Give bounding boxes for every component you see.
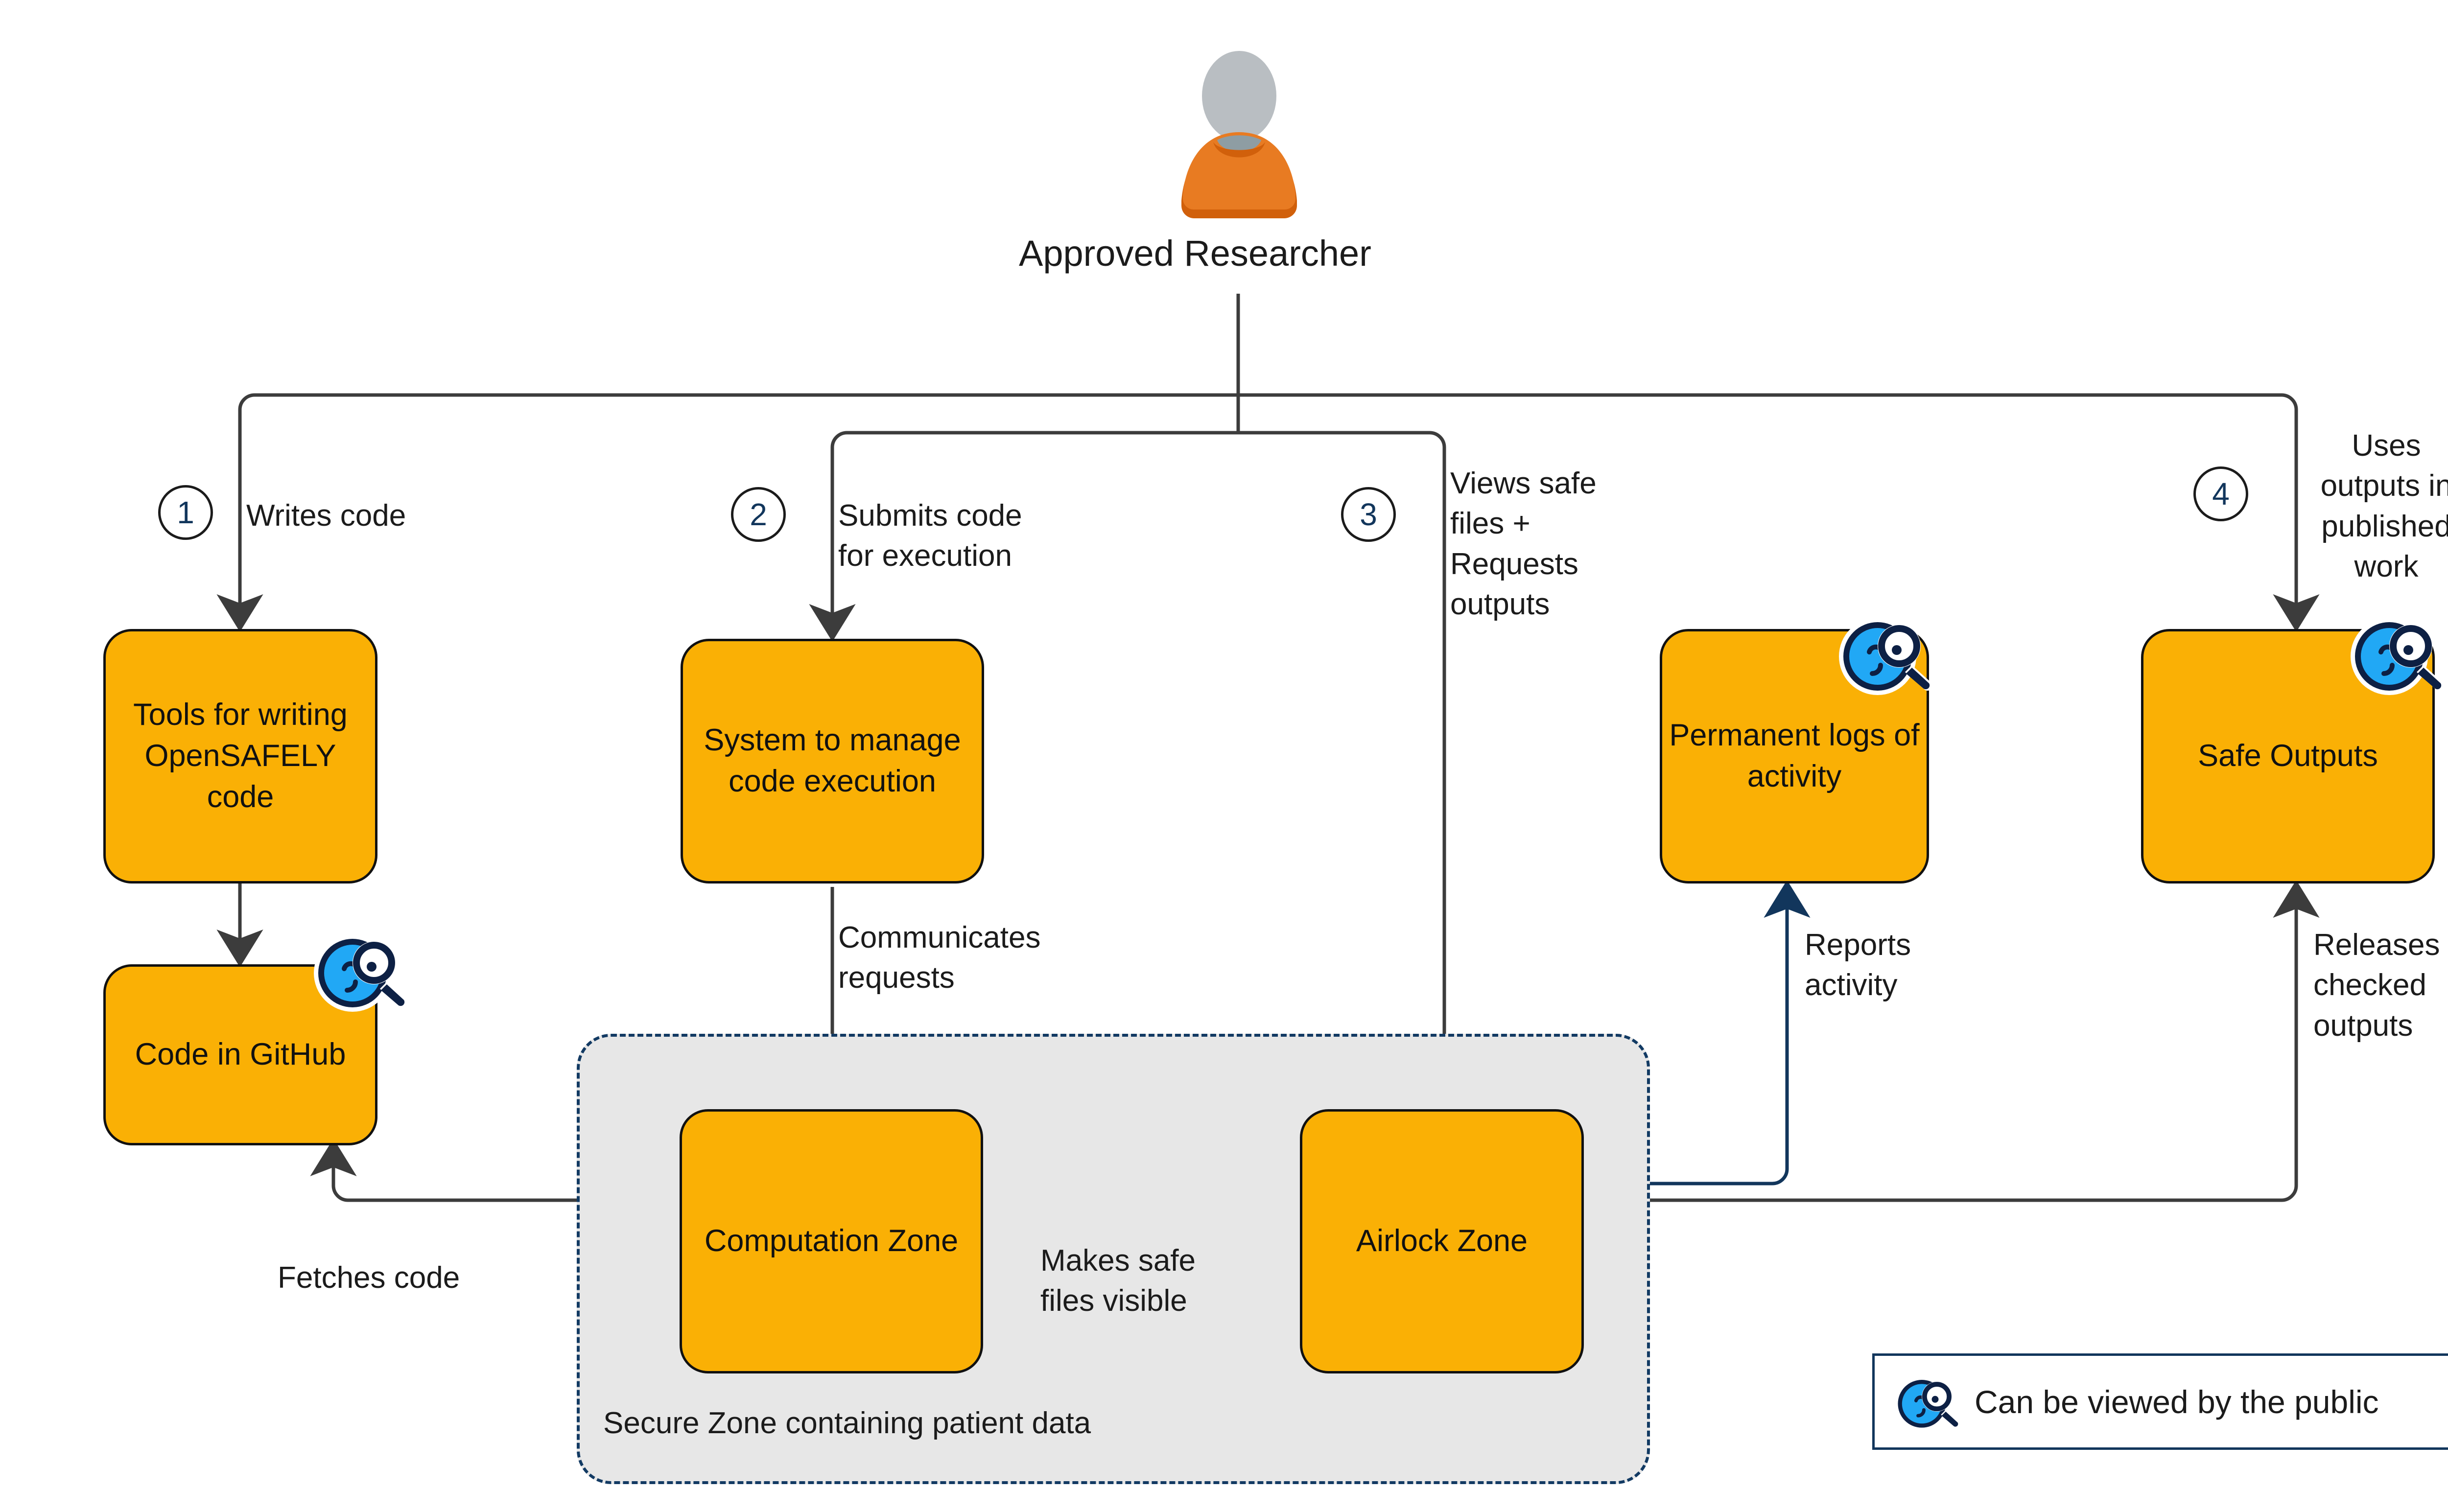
actor-label: Approved Researcher [1019, 233, 1371, 274]
step-badge-2: 2 [731, 487, 786, 542]
edge-label-fetches-code: Fetches code [278, 1258, 460, 1298]
legend-label: Can be viewed by the public [1975, 1383, 2379, 1420]
secure-zone-label: Secure Zone containing patient data [603, 1406, 1091, 1441]
step-badge-2-number: 2 [750, 496, 767, 533]
node-job-system-label: System to manage code execution [690, 720, 975, 802]
step-badge-4-number: 4 [2212, 476, 2230, 512]
step-label-3: Views safe files + Requests outputs [1450, 464, 1597, 625]
step-label-1: Writes code [246, 496, 406, 536]
step-badge-1-number: 1 [177, 494, 194, 531]
opensafely-magnifier-icon [306, 918, 411, 1023]
step-badge-4: 4 [2193, 466, 2248, 521]
opensafely-magnifier-icon [1831, 601, 1936, 706]
node-airlock-zone[interactable]: Airlock Zone [1300, 1109, 1584, 1373]
edge-label-reports-activity: Reports activity [1805, 925, 1911, 1006]
node-job-system[interactable]: System to manage code execution [681, 639, 984, 884]
node-airlock-zone-label: Airlock Zone [1356, 1221, 1528, 1262]
edge-label-makes-safe-files-visible: Makes safe files visible [1040, 1241, 1196, 1322]
step-badge-3: 3 [1341, 487, 1396, 542]
node-computation-zone-label: Computation Zone [705, 1221, 958, 1262]
node-tools[interactable]: Tools for writing OpenSAFELY code [103, 629, 377, 884]
node-tools-label: Tools for writing OpenSAFELY code [113, 695, 368, 817]
diagram-canvas: Approved Researcher Secure Zone containi… [0, 0, 2448, 1512]
step-label-4: Uses outputs in published work [2308, 426, 2448, 587]
legend-box: Can be viewed by the public [1872, 1353, 2448, 1450]
edge-label-releases-checked-outputs: Releases checked outputs [2313, 925, 2440, 1046]
step-label-2: Submits code for execution [838, 496, 1022, 577]
node-computation-zone[interactable]: Computation Zone [680, 1109, 983, 1373]
edge-label-communicates-requests: Communicates requests [838, 918, 1040, 999]
node-safe-outputs-label: Safe Outputs [2198, 736, 2378, 777]
opensafely-magnifier-icon [1889, 1365, 1963, 1439]
opensafely-magnifier-icon [2343, 601, 2448, 706]
person-icon [1158, 49, 1320, 220]
node-github-label: Code in GitHub [135, 1034, 346, 1075]
node-permanent-logs-label: Permanent logs of activity [1669, 715, 1920, 797]
step-badge-3-number: 3 [1360, 496, 1377, 533]
step-badge-1: 1 [158, 485, 213, 540]
